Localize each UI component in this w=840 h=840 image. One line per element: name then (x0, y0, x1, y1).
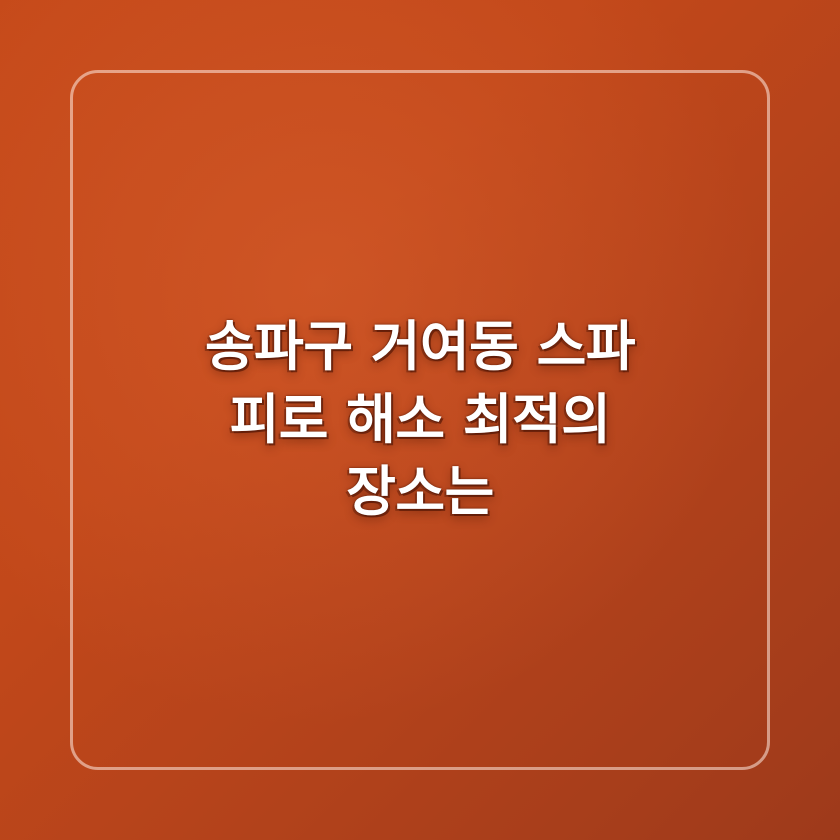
poster-title: 송파구 거여동 스파 피로 해소 최적의 장소는 (100, 311, 740, 528)
title-container: 송파구 거여동 스파 피로 해소 최적의 장소는 (0, 0, 840, 840)
poster-canvas: 송파구 거여동 스파 피로 해소 최적의 장소는 (0, 0, 840, 840)
